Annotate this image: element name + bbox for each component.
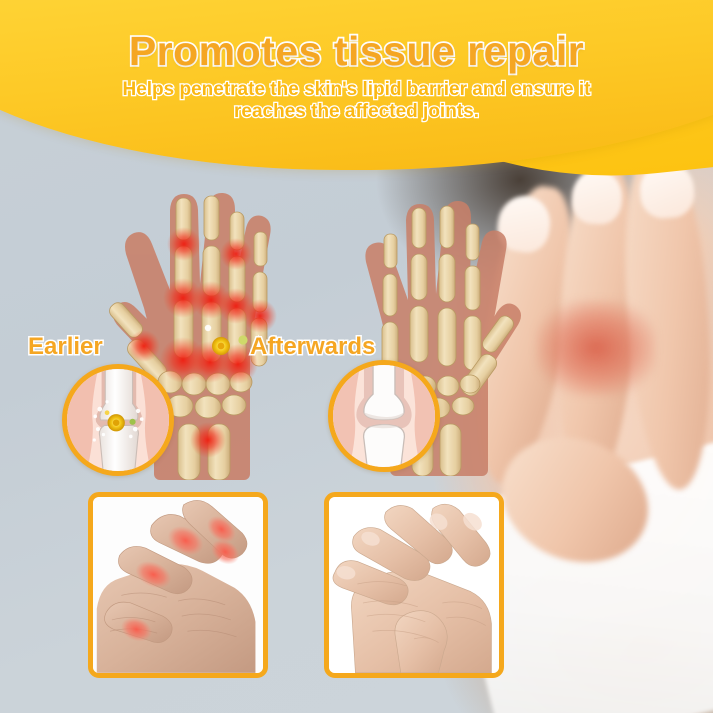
joint-inset-afterwards [328, 360, 440, 472]
photo-panel-afterwards [324, 492, 504, 678]
photo-arthritic-hands [93, 497, 263, 673]
photo-healthy-hand [329, 497, 499, 673]
subtitle-line-1: Helps penetrate the skin's lipid barrier… [0, 79, 713, 101]
page-subtitle: Helps penetrate the skin's lipid barrier… [0, 79, 713, 123]
background-inflamed-knuckle [536, 300, 656, 396]
photo-panel-earlier [88, 492, 268, 678]
promotional-poster: close-up-photo-of-hands-with-inflamed-fi… [0, 0, 713, 713]
joint-inset-earlier [62, 364, 174, 476]
subtitle-line-2: reaches the affected joints. [0, 101, 713, 123]
damaged-joint-diagram [67, 369, 169, 471]
page-title: Promotes tissue repair [0, 28, 713, 75]
healthy-joint-diagram [333, 365, 435, 467]
header-text-block: Promotes tissue repair Helps penetrate t… [0, 0, 713, 123]
label-afterwards: Afterwards [250, 333, 375, 361]
label-earlier: Earlier [28, 333, 103, 361]
